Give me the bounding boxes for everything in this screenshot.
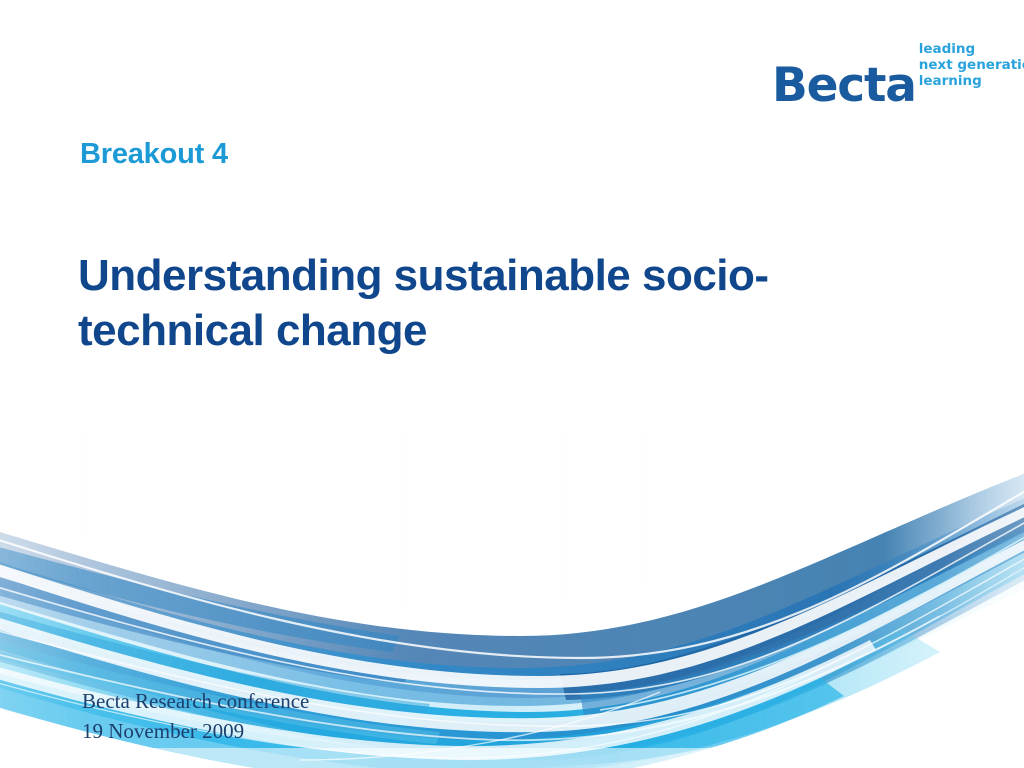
- logo-wordmark: Becta: [772, 64, 916, 109]
- slide-footer: Becta Research conference 19 November 20…: [82, 686, 309, 747]
- logo-tagline-line-1: leading: [919, 42, 1024, 58]
- logo-tagline-line-3: learning: [919, 74, 1024, 90]
- becta-logo: Becta leading next generation learning: [772, 33, 972, 107]
- logo-tagline-line-2: next generation: [919, 58, 1024, 74]
- slide-canvas: Becta leading next generation learning B…: [0, 0, 1024, 768]
- logo-tagline: leading next generation learning: [919, 42, 1024, 90]
- session-label: Breakout 4: [80, 138, 228, 171]
- footer-date: 19 November 2009: [82, 716, 309, 746]
- footer-conference-name: Becta Research conference: [82, 686, 309, 716]
- slide-title: Understanding sustainable socio-technica…: [78, 248, 938, 358]
